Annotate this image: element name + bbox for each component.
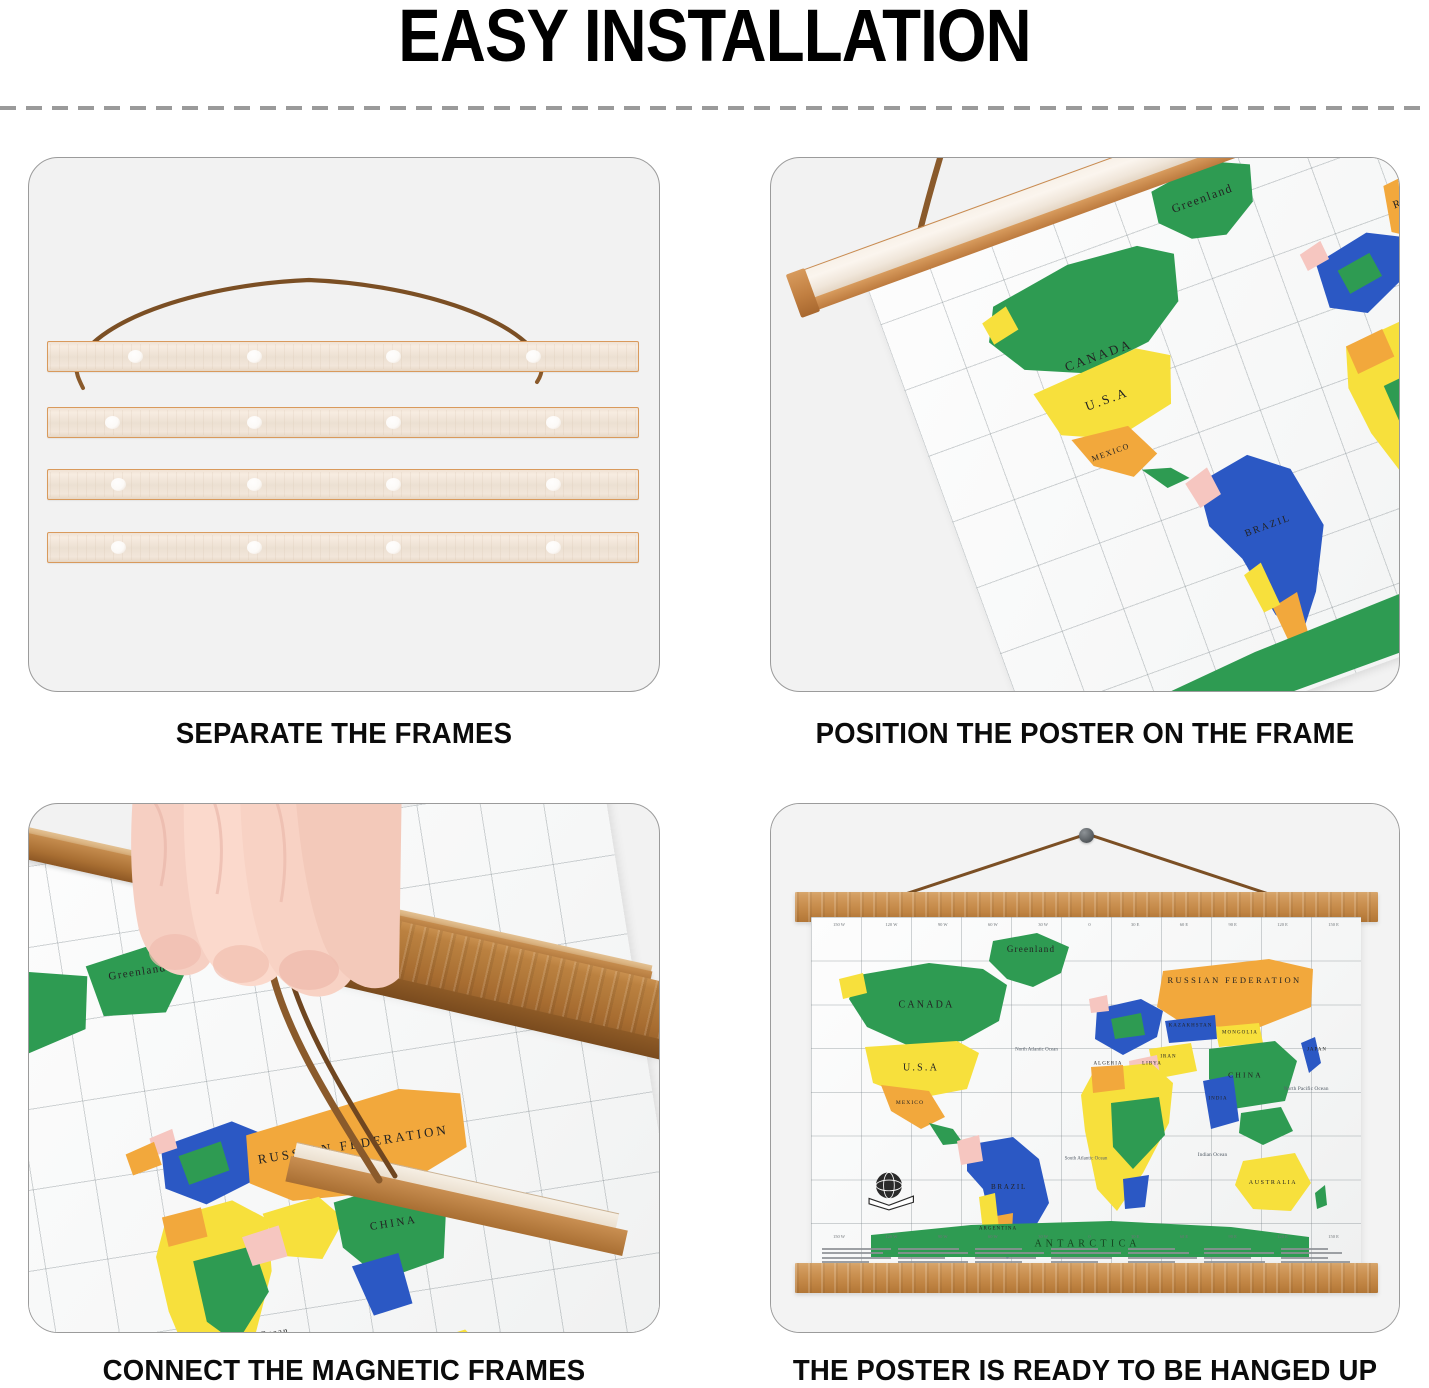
tick: 120 W <box>885 1234 897 1239</box>
tick: 0 <box>1088 922 1090 927</box>
tick: 150 E <box>1328 922 1339 927</box>
magnet-dot <box>386 350 401 363</box>
header-divider <box>0 106 1429 110</box>
magnet-dot <box>247 478 262 491</box>
tick: 90 W <box>938 1234 948 1239</box>
magnet-dot <box>247 541 262 554</box>
tick: 60 W <box>988 1234 998 1239</box>
scratch-map-poster: CANADA U.S.A Greenland MEXICO BRAZIL ARG… <box>811 917 1361 1267</box>
tick: 60 E <box>1180 922 1188 927</box>
caption-step-4: THE POSTER IS READY TO BE HANGED UP <box>762 1355 1408 1388</box>
magnet-dot <box>128 350 143 363</box>
tick: 0 <box>1088 1234 1090 1239</box>
hand-icon <box>77 803 407 1084</box>
magnet-dot <box>105 416 120 429</box>
bottom-frame-bar <box>795 1263 1378 1293</box>
caption-step-3: CONNECT THE MAGNETIC FRAMES <box>34 1355 653 1388</box>
caption-step-2: POSITION THE POSTER ON THE FRAME <box>767 718 1404 751</box>
frame-strip <box>47 407 639 438</box>
tick: 150 W <box>833 1234 845 1239</box>
magnet-dot <box>526 350 541 363</box>
frame-strip <box>47 532 639 563</box>
magnet-dot <box>386 416 401 429</box>
panel-position-the-poster: CANADA U.S.A Greenland MEXICO BRAZIL RUS… <box>770 157 1400 692</box>
caption-step-1: SEPARATE THE FRAMES <box>44 718 644 751</box>
tick: 120 E <box>1277 1234 1288 1239</box>
tick: 30 W <box>1038 922 1048 927</box>
tick: 120 E <box>1277 922 1288 927</box>
frame-strip <box>47 469 639 500</box>
magnet-dot <box>546 541 561 554</box>
tick: 30 W <box>1038 1234 1048 1239</box>
hanging-poster-assembly: CANADA U.S.A Greenland MEXICO BRAZIL ARG… <box>771 804 1399 1332</box>
panel-connect-the-magnetic-frames: CANADA U.S.A Greenland RUSSIAN FEDERATIO… <box>28 803 660 1333</box>
panel-poster-ready: CANADA U.S.A Greenland MEXICO BRAZIL ARG… <box>770 803 1400 1333</box>
world-map-shapes <box>811 917 1361 1267</box>
page-title: EASY INSTALLATION <box>100 0 1329 76</box>
magnet-dot <box>247 350 262 363</box>
poster-and-frame-assembly: CANADA U.S.A Greenland MEXICO BRAZIL RUS… <box>770 157 1400 692</box>
frame-strip <box>47 341 639 372</box>
tick: 150 W <box>833 922 845 927</box>
tick: 30 E <box>1131 1234 1139 1239</box>
wall-pin-icon <box>1079 828 1094 843</box>
tick: 90 E <box>1228 1234 1236 1239</box>
longitude-ticks-top: 150 W 120 W 90 W 60 W 30 W 0 30 E 60 E 9… <box>833 922 1339 927</box>
tick: 150 E <box>1328 1234 1339 1239</box>
scratch-map-logo <box>866 1169 918 1211</box>
installation-infographic: EASY INSTALLATION <box>0 0 1429 1388</box>
longitude-ticks-bottom: 150 W 120 W 90 W 60 W 30 W 0 30 E 60 E 9… <box>833 1234 1339 1239</box>
panel-separate-the-frames <box>28 157 660 692</box>
tick: 30 E <box>1131 922 1139 927</box>
tick: 120 W <box>885 922 897 927</box>
tick: 90 E <box>1228 922 1236 927</box>
magnet-dot <box>111 541 126 554</box>
magnet-dot <box>546 416 561 429</box>
magnet-dot <box>111 478 126 491</box>
magnet-dot <box>546 478 561 491</box>
hand-assembling-frame: CANADA U.S.A Greenland RUSSIAN FEDERATIO… <box>29 804 659 1332</box>
magnet-dot <box>386 541 401 554</box>
tick: 90 W <box>938 922 948 927</box>
magnet-dot <box>386 478 401 491</box>
tick: 60 E <box>1180 1234 1188 1239</box>
wood-grain-texture <box>795 1263 1378 1293</box>
magnet-dot <box>247 416 262 429</box>
tick: 60 W <box>988 922 998 927</box>
